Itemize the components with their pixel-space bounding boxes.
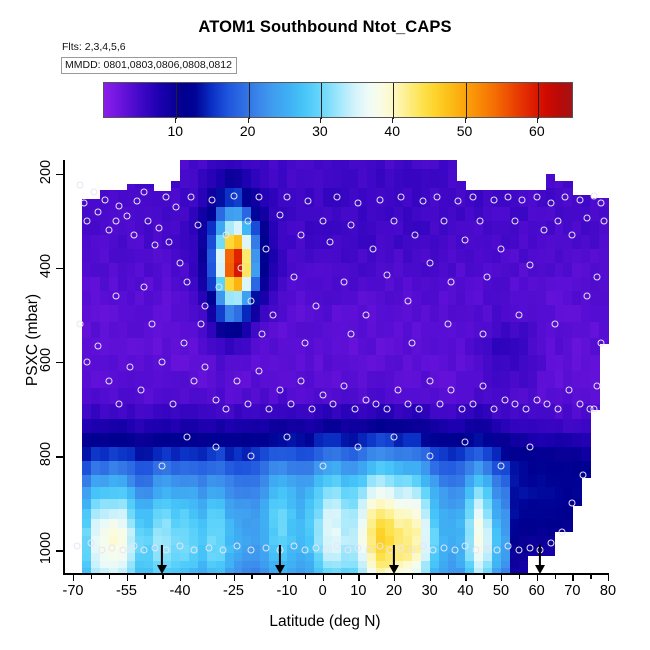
x-axis-ticklabel: 50 bbox=[493, 583, 509, 599]
x-axis-ticklabel: 80 bbox=[600, 583, 616, 599]
y-axis-label: PSXC (mbar) bbox=[24, 260, 42, 420]
colorbar-divider bbox=[393, 83, 394, 119]
colorbar-divider bbox=[466, 83, 467, 119]
x-axis-minor-tickmark bbox=[91, 574, 92, 579]
x-axis-ticklabel: 40 bbox=[457, 583, 473, 599]
colorbar-divider bbox=[249, 83, 250, 119]
x-axis-ticklabel: -55 bbox=[116, 583, 137, 599]
x-axis-ticklabel: 30 bbox=[422, 583, 438, 599]
y-axis-ticklabel: 200 bbox=[38, 152, 54, 192]
x-axis-ticklabel: 10 bbox=[350, 583, 366, 599]
x-axis-minor-tickmark bbox=[109, 574, 110, 579]
x-axis-minor-tickmark bbox=[448, 574, 449, 579]
x-axis-tickmark bbox=[358, 574, 359, 581]
mmdd-annotation: MMDD: 0801,0803,0806,0808,0812 bbox=[61, 57, 237, 74]
x-axis-ticklabel: 0 bbox=[319, 583, 327, 599]
plot-area bbox=[63, 160, 608, 573]
x-axis-minor-tickmark bbox=[216, 574, 217, 579]
x-axis-minor-tickmark bbox=[305, 574, 306, 579]
colorbar-ticklabel: 30 bbox=[312, 123, 328, 139]
x-axis-minor-tickmark bbox=[251, 574, 252, 579]
x-axis-label: Latitude (deg N) bbox=[0, 613, 650, 631]
x-axis-minor-tickmark bbox=[341, 574, 342, 579]
colorbar: 102030405060 bbox=[103, 82, 573, 118]
x-axis-ticklabel: 20 bbox=[386, 583, 402, 599]
colorbar-gradient bbox=[103, 82, 573, 118]
x-axis-tickmark bbox=[501, 574, 502, 581]
page-title: ATOM1 Southbound Ntot_CAPS bbox=[0, 18, 650, 37]
y-axis-tickmark bbox=[56, 268, 64, 269]
y-axis-line bbox=[63, 160, 65, 574]
x-axis-minor-tickmark bbox=[269, 574, 270, 579]
x-axis-tickmark bbox=[323, 574, 324, 581]
x-axis-tickmark bbox=[127, 574, 128, 581]
x-axis-minor-tickmark bbox=[519, 574, 520, 579]
x-axis-minor-tickmark bbox=[555, 574, 556, 579]
x-axis-minor-tickmark bbox=[198, 574, 199, 579]
x-axis-tickmark bbox=[572, 574, 573, 581]
x-axis-ticklabel: -25 bbox=[223, 583, 244, 599]
colorbar-ticklabel: 60 bbox=[529, 123, 545, 139]
x-axis-tickmark bbox=[287, 574, 288, 581]
x-axis-minor-tickmark bbox=[144, 574, 145, 579]
y-axis-tickmark bbox=[56, 362, 64, 363]
colorbar-ticklabel: 50 bbox=[457, 123, 473, 139]
x-axis-minor-tickmark bbox=[590, 574, 591, 579]
x-axis-minor-tickmark bbox=[162, 574, 163, 579]
x-axis-tickmark bbox=[73, 574, 74, 581]
x-axis-tickmark bbox=[180, 574, 181, 581]
x-axis-minor-tickmark bbox=[483, 574, 484, 579]
colorbar-divider bbox=[176, 83, 177, 119]
colorbar-ticklabel: 20 bbox=[240, 123, 256, 139]
x-axis-ticklabel: -70 bbox=[63, 583, 84, 599]
y-axis-tickmark bbox=[56, 456, 64, 457]
x-axis-tickmark bbox=[430, 574, 431, 581]
x-axis-ticklabel: -10 bbox=[277, 583, 298, 599]
y-axis-tickmark bbox=[56, 550, 64, 551]
x-axis-ticklabel: 60 bbox=[529, 583, 545, 599]
x-axis-minor-tickmark bbox=[412, 574, 413, 579]
y-axis-ticklabel: 1000 bbox=[38, 528, 54, 568]
colorbar-divider bbox=[538, 83, 539, 119]
x-axis-tickmark bbox=[394, 574, 395, 581]
x-axis-tickmark bbox=[537, 574, 538, 581]
flights-annotation: Flts: 2,3,4,5,6 bbox=[62, 41, 126, 53]
x-axis-ticklabel: -40 bbox=[170, 583, 191, 599]
x-axis-tickmark bbox=[608, 574, 609, 581]
figure-root: ATOM1 Southbound Ntot_CAPS Flts: 2,3,4,5… bbox=[0, 0, 650, 650]
colorbar-ticklabel: 40 bbox=[384, 123, 400, 139]
colorbar-divider bbox=[321, 83, 322, 119]
x-axis-ticklabel: 70 bbox=[564, 583, 580, 599]
x-axis-tickmark bbox=[465, 574, 466, 581]
y-axis-tickmark bbox=[56, 174, 64, 175]
x-axis-tickmark bbox=[234, 574, 235, 581]
x-axis-minor-tickmark bbox=[376, 574, 377, 579]
colorbar-ticklabel: 10 bbox=[168, 123, 184, 139]
y-axis-ticklabel: 800 bbox=[38, 434, 54, 474]
